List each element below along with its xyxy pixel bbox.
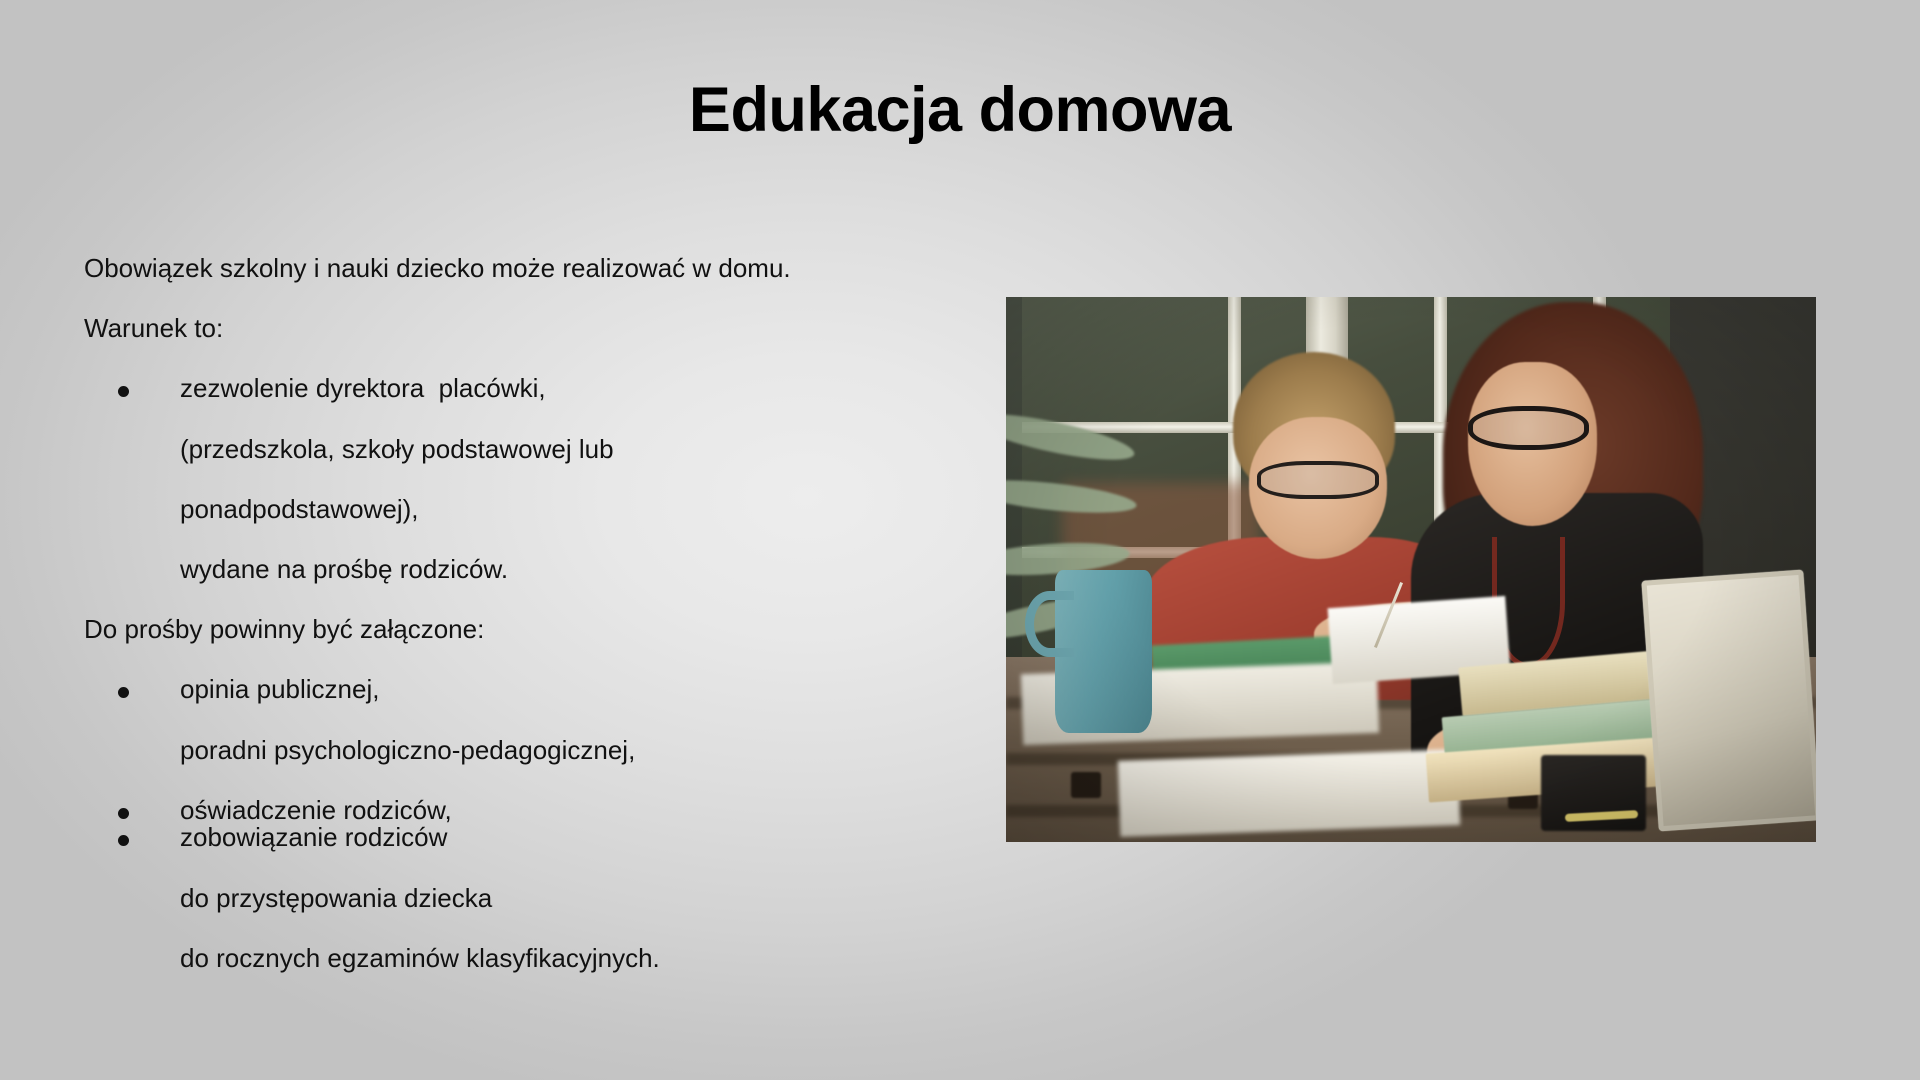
bullet-text: opinia publicznej, [180,674,379,704]
continuation-przedszkola: (przedszkola, szkoły podstawowej lub [180,436,904,462]
slide-photo [1006,297,1816,842]
paragraph-obowiazek: Obowiązek szkolny i nauki dziecko może r… [84,255,904,281]
photo-woman-glasses [1468,406,1590,450]
continuation-wydane: wydane na prośbę rodziców. [180,556,904,582]
bullet-text: zezwolenie dyrektora placówki, [180,373,546,403]
continuation-egzaminow: do rocznych egzaminów klasyfikacyjnych. [180,945,904,971]
photo-illustration [1006,297,1816,842]
continuation-poradni: poradni psychologiczno-pedagogicznej, [180,737,904,763]
photo-tablet-frame [1641,570,1816,831]
bullet-text: zobowiązanie rodziców [180,822,447,852]
list-item: oświadczenie rodziców, [84,797,904,824]
slide-canvas: Edukacja domowa Obowiązek szkolny i nauk… [0,0,1920,1080]
photo-mug-handle [1025,591,1074,656]
paragraph-do-prosby: Do prośby powinny być załączone: [84,616,904,642]
bullet-dot-icon [118,386,129,397]
photo-boy-glasses [1257,461,1379,499]
bullet-dot-icon [118,808,129,819]
bullet-text: oświadczenie rodziców, [180,795,452,825]
page-title: Edukacja domowa [0,74,1920,146]
continuation-ponadpodstawowej: ponadpodstawowej), [180,496,904,522]
bullet-list-zalaczniki-2: oświadczenie rodziców, zobowiązanie rodz… [84,797,904,851]
bullet-dot-icon [118,835,129,846]
list-item: opinia publicznej, [84,676,904,703]
slide-body-content: Obowiązek szkolny i nauki dziecko może r… [84,255,904,1005]
continuation-przystepowania: do przystępowania dziecka [180,885,904,911]
bullet-list-zalaczniki-1: opinia publicznej, [84,676,904,703]
bullet-list-warunki: zezwolenie dyrektora placówki, [84,375,904,402]
paragraph-warunek: Warunek to: [84,315,904,341]
list-item: zezwolenie dyrektora placówki, [84,375,904,402]
bullet-dot-icon [118,687,129,698]
list-item: zobowiązanie rodziców [84,824,904,851]
photo-paper-stack [1118,749,1461,837]
